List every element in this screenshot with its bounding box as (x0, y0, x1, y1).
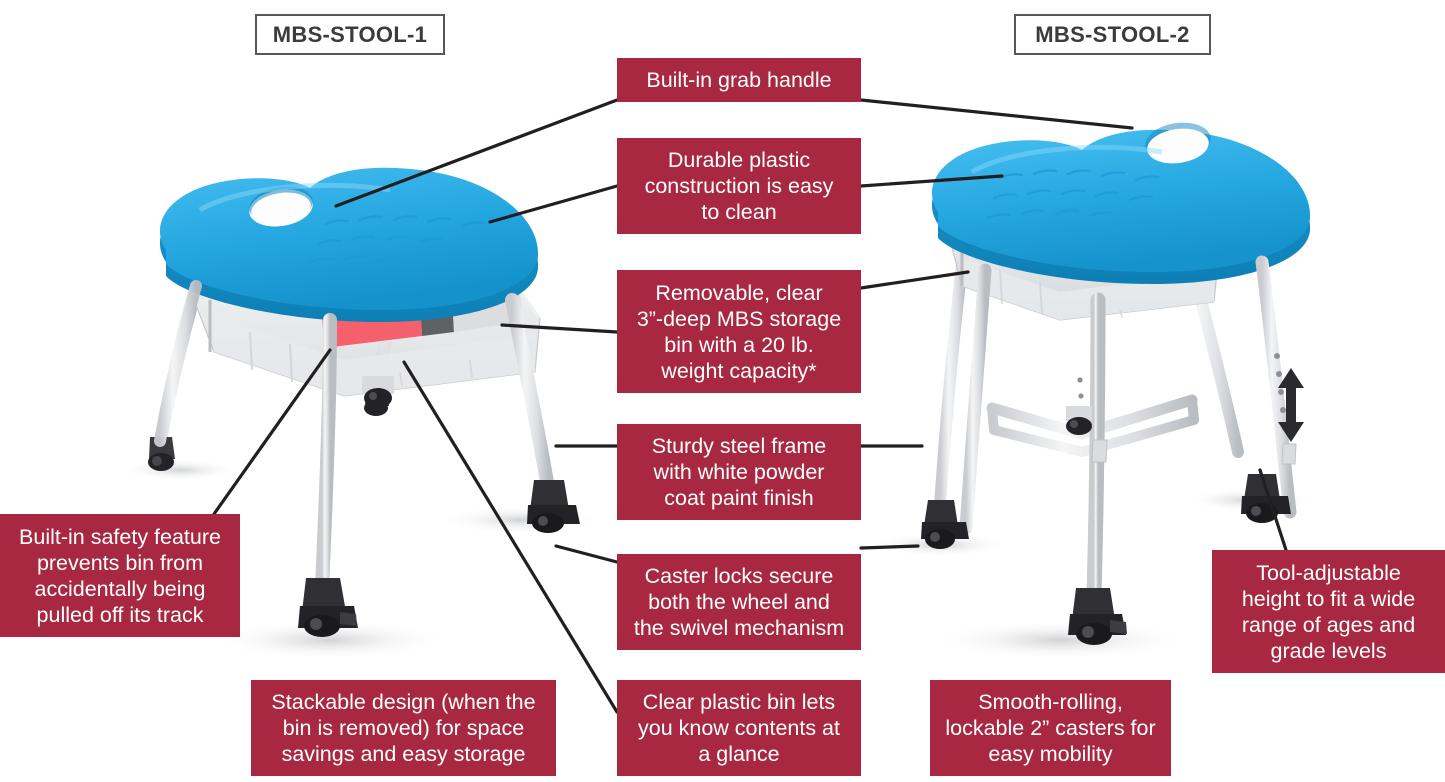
caster-front-right-stool-1 (527, 480, 580, 533)
callout-tool-adjustable-text: Tool-adjustable height to fit a wide ran… (1242, 560, 1415, 664)
up-down-arrow-icon (1278, 368, 1304, 442)
callout-smooth-rolling-text: Smooth-rolling, lockable 2” casters for … (945, 689, 1155, 767)
storage-bin-stool-2 (948, 220, 1218, 320)
leader-storage-bin-left (502, 325, 617, 332)
leader-clear-bin (404, 362, 617, 712)
foot-ring-stool-2 (992, 400, 1192, 434)
product-feature-diagram: MBS-STOOL-1 MBS-STOOL-2 Built-in grab ha… (0, 0, 1445, 782)
leg-rear-right-stool-2 (1178, 210, 1238, 452)
seat-texture-stool-1 (302, 216, 484, 280)
callout-steel-frame: Sturdy steel frame with white powder coa… (617, 424, 861, 520)
callout-smooth-rolling: Smooth-rolling, lockable 2” casters for … (930, 680, 1171, 776)
caster-front-center-stool-2 (1068, 588, 1127, 645)
seat-stool-1 (160, 168, 538, 322)
callout-steel-frame-text: Sturdy steel frame with white powder coa… (652, 433, 826, 511)
callout-caster-locks-text: Caster locks secure both the wheel and t… (634, 563, 844, 641)
leg-front-left-stool-1 (322, 320, 330, 586)
sku-label-stool-2-text: MBS-STOOL-2 (1035, 22, 1189, 48)
grab-handle-hole-stool-2 (1145, 125, 1211, 167)
leader-safety-feature (214, 350, 330, 514)
leader-caster-locks-right (861, 546, 918, 548)
leg-front-right-stool-2 (1262, 262, 1290, 512)
callout-stackable-design: Stackable design (when the bin is remove… (251, 680, 556, 776)
callout-durable-plastic-text: Durable plastic construction is easy to … (645, 147, 834, 225)
caster-front-right-stool-2 (1241, 474, 1291, 523)
callout-clear-bin: Clear plastic bin lets you know contents… (617, 680, 861, 776)
seat-texture-stool-2 (988, 170, 1158, 218)
bin-contents-pink (322, 300, 422, 348)
leader-tool-adjustable (1260, 470, 1286, 550)
leader-durable-plastic-left (490, 186, 617, 222)
callout-tool-adjustable: Tool-adjustable height to fit a wide ran… (1212, 550, 1445, 673)
callout-storage-bin-text: Removable, clear 3”-deep MBS storage bin… (637, 280, 841, 384)
leg-front-center-stool-2 (1094, 300, 1098, 596)
leg-front-right-stool-1 (512, 300, 548, 488)
callout-clear-bin-text: Clear plastic bin lets you know contents… (638, 689, 840, 767)
callout-grab-handle: Built-in grab handle (617, 58, 861, 102)
caster-center-stool-1 (362, 376, 394, 408)
callout-grab-handle-text: Built-in grab handle (646, 67, 831, 93)
caster-rear-left (148, 437, 175, 471)
leader-durable-plastic-right (861, 176, 1002, 186)
callout-caster-locks: Caster locks secure both the wheel and t… (617, 554, 861, 650)
sku-label-stool-1: MBS-STOOL-1 (255, 14, 445, 55)
height-adjust-holes (1077, 353, 1288, 431)
leg-rear-left-stool-2 (940, 240, 965, 505)
caster-rear-left-stool-2 (921, 500, 969, 549)
leader-grab-handle-right (861, 100, 1132, 128)
callout-stackable-design-text: Stackable design (when the bin is remove… (271, 689, 535, 767)
grab-handle-hole-stool-1 (247, 185, 316, 231)
caster-front-left-stool-1 (298, 578, 358, 637)
seat-stool-2 (932, 119, 1310, 284)
leader-grab-handle-left (336, 100, 617, 206)
sku-label-stool-2: MBS-STOOL-2 (1014, 14, 1211, 55)
callout-safety-feature-text: Built-in safety feature prevents bin fro… (19, 524, 221, 628)
callout-durable-plastic: Durable plastic construction is easy to … (617, 138, 861, 234)
sku-label-stool-1-text: MBS-STOOL-1 (273, 22, 427, 48)
leader-storage-bin-right (861, 272, 968, 288)
callout-storage-bin: Removable, clear 3”-deep MBS storage bin… (617, 270, 861, 393)
caster-rear-right (364, 386, 389, 416)
storage-bin-stool-1 (188, 262, 540, 396)
callout-safety-feature: Built-in safety feature prevents bin fro… (0, 514, 240, 637)
caster-rear-center-stool-2 (1066, 406, 1092, 435)
leader-caster-locks-left (556, 546, 617, 562)
leg-front-left-stool-2 (966, 270, 985, 528)
